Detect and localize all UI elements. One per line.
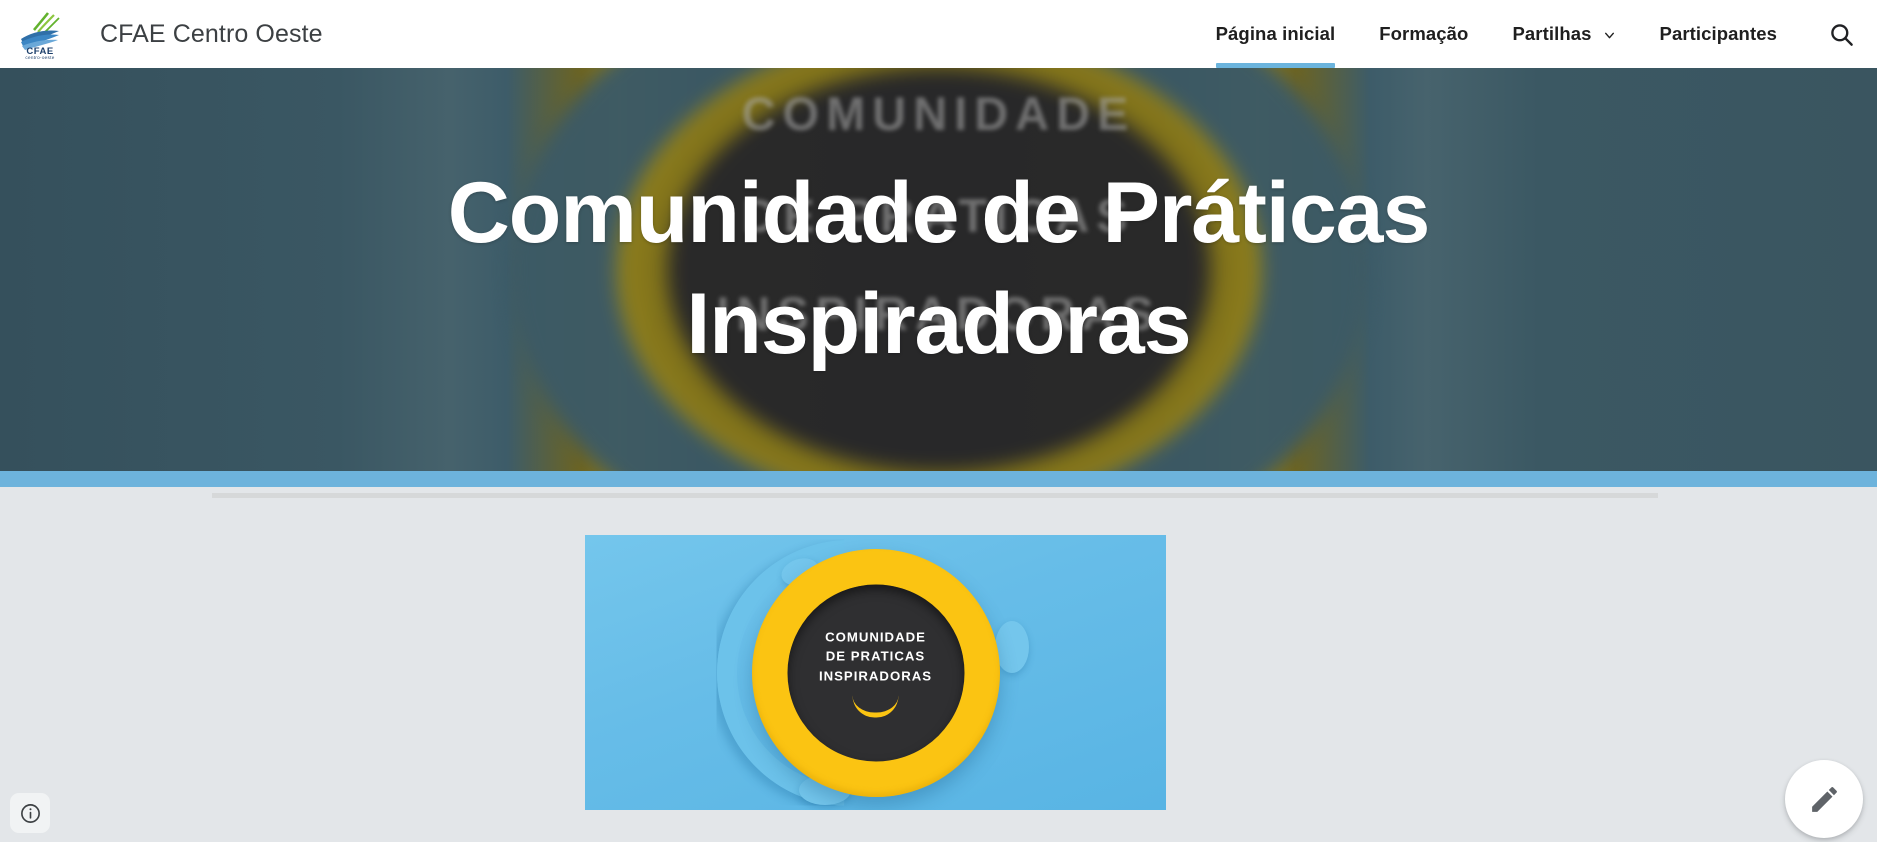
hero-accent-bar (0, 471, 1877, 487)
nav-item-label: Formação (1379, 23, 1468, 45)
badge-text-line-1: COMUNIDADE (825, 627, 926, 647)
nav-item-label: Página inicial (1216, 23, 1336, 45)
nav-item-formacao[interactable]: Formação (1357, 0, 1490, 68)
nav-item-label: Partilhas (1512, 23, 1591, 45)
hero-faint-text-line-1: COMUNIDADE (0, 86, 1877, 141)
nav-item-label: Participantes (1660, 23, 1778, 45)
cfae-logo-icon: CFAE centro-oeste (14, 9, 66, 59)
search-icon (1828, 21, 1855, 48)
page-title: Comunidade de Práticas Inspiradoras (299, 158, 1579, 382)
hero-banner: COMUNIDADE DE PRATICAS INSPIRADORAS Comu… (0, 68, 1877, 471)
site-title: CFAE Centro Oeste (100, 20, 323, 49)
svg-text:centro-oeste: centro-oeste (25, 55, 54, 59)
info-icon (19, 802, 42, 825)
site-brand[interactable]: CFAE centro-oeste CFAE Centro Oeste (14, 0, 323, 68)
badge-yellow-ring: COMUNIDADE DE PRATICAS INSPIRADORAS (752, 549, 1000, 797)
chevron-down-icon (1603, 29, 1616, 42)
badge-text-line-2: DE PRATICAS (826, 647, 925, 667)
content-divider (212, 493, 1658, 498)
page-content: COMUNIDADE DE PRATICAS INSPIRADORAS (0, 487, 1877, 842)
edit-page-button[interactable] (1785, 760, 1863, 838)
nav-item-partilhas[interactable]: Partilhas (1490, 0, 1637, 68)
site-info-button[interactable] (10, 793, 50, 833)
badge-text-line-3: INSPIRADORAS (819, 666, 932, 686)
badge-smile-icon (853, 696, 899, 718)
nav-item-participantes[interactable]: Participantes (1638, 0, 1800, 68)
badge-tab-right (995, 621, 1029, 673)
pencil-icon (1808, 783, 1841, 816)
top-navigation-bar: CFAE centro-oeste CFAE Centro Oeste Pági… (0, 0, 1877, 68)
badge-photo: COMUNIDADE DE PRATICAS INSPIRADORAS (585, 535, 1166, 810)
main-menu: Página inicial Formação Partilhas Partic… (1194, 0, 1877, 68)
content-banner-image[interactable]: COMUNIDADE DE PRATICAS INSPIRADORAS (585, 535, 1166, 810)
badge-dark-disc: COMUNIDADE DE PRATICAS INSPIRADORAS (787, 584, 964, 761)
nav-item-pagina-inicial[interactable]: Página inicial (1194, 0, 1358, 68)
search-button[interactable] (1813, 0, 1869, 68)
